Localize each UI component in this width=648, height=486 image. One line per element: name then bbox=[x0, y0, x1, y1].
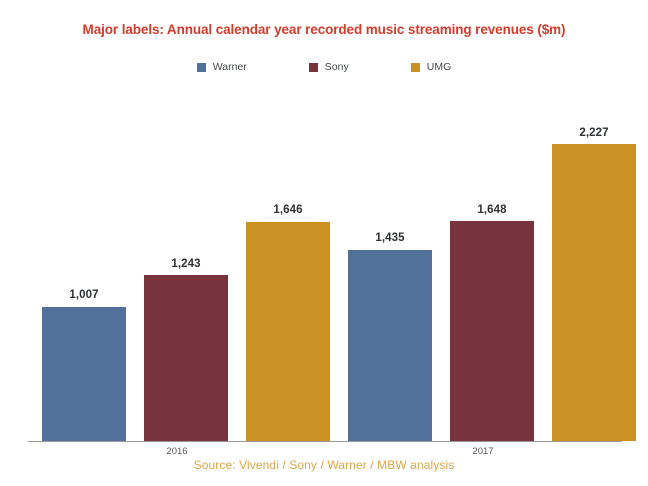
bar-group-2017: 1,435 1,648 2,227 bbox=[348, 101, 636, 441]
bar-value-label: 2,227 bbox=[579, 128, 608, 140]
bar-rect bbox=[552, 144, 636, 441]
bar-value-label: 1,435 bbox=[375, 233, 404, 245]
axis-label-2016: 2016 bbox=[117, 446, 237, 457]
chart-page: Major labels: Annual calendar year recor… bbox=[0, 0, 648, 486]
bar-value-label: 1,007 bbox=[69, 290, 98, 302]
bar-rect bbox=[42, 307, 126, 441]
bar-warner-2016[interactable]: 1,007 bbox=[42, 101, 126, 441]
bar-sony-2017[interactable]: 1,648 bbox=[450, 101, 534, 441]
axis-label-2017: 2017 bbox=[423, 446, 543, 457]
bar-value-label: 1,648 bbox=[477, 205, 506, 217]
bar-rect bbox=[246, 222, 330, 441]
bar-rect bbox=[450, 221, 534, 441]
bar-umg-2017[interactable]: 2,227 bbox=[552, 101, 636, 441]
bar-warner-2017[interactable]: 1,435 bbox=[348, 101, 432, 441]
bar-rect bbox=[144, 275, 228, 441]
source-note: Source: Vivendi / Sony / Warner / MBW an… bbox=[0, 458, 648, 472]
bar-group-2016: 1,007 1,243 1,646 bbox=[42, 101, 330, 441]
bar-value-label: 1,243 bbox=[171, 259, 200, 271]
axis-baseline bbox=[28, 441, 622, 442]
bar-sony-2016[interactable]: 1,243 bbox=[144, 101, 228, 441]
bar-value-label: 1,646 bbox=[273, 205, 302, 217]
plot-area: 1,007 1,243 1,646 1,435 1,648 2,22 bbox=[0, 0, 648, 486]
bar-umg-2016[interactable]: 1,646 bbox=[246, 101, 330, 441]
bar-rect bbox=[348, 250, 432, 441]
